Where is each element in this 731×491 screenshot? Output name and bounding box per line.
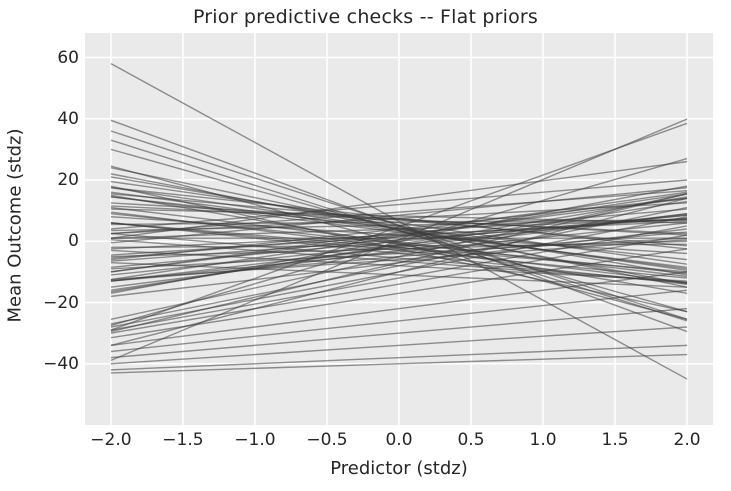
x-tick-label: −0.5 [306, 430, 347, 450]
x-tick-label: 1.5 [602, 430, 629, 450]
y-axis-label: Mean Outcome (stdz) [5, 30, 26, 422]
x-tick-label: 2.0 [674, 430, 701, 450]
x-tick-label: 1.0 [530, 430, 557, 450]
x-tick-label: −1.0 [234, 430, 275, 450]
x-tick-label: 0.5 [457, 430, 484, 450]
page-title: Prior predictive checks -- Flat priors [0, 6, 731, 28]
plot-area [85, 33, 713, 425]
x-tick-label: −1.5 [162, 430, 203, 450]
x-axis-label: Predictor (stdz) [85, 458, 713, 479]
plot-canvas [85, 33, 713, 425]
chart-figure: Prior predictive checks -- Flat priors −… [0, 0, 731, 491]
x-tick-label: −2.0 [90, 430, 131, 450]
x-tick-label: 0.0 [385, 430, 412, 450]
